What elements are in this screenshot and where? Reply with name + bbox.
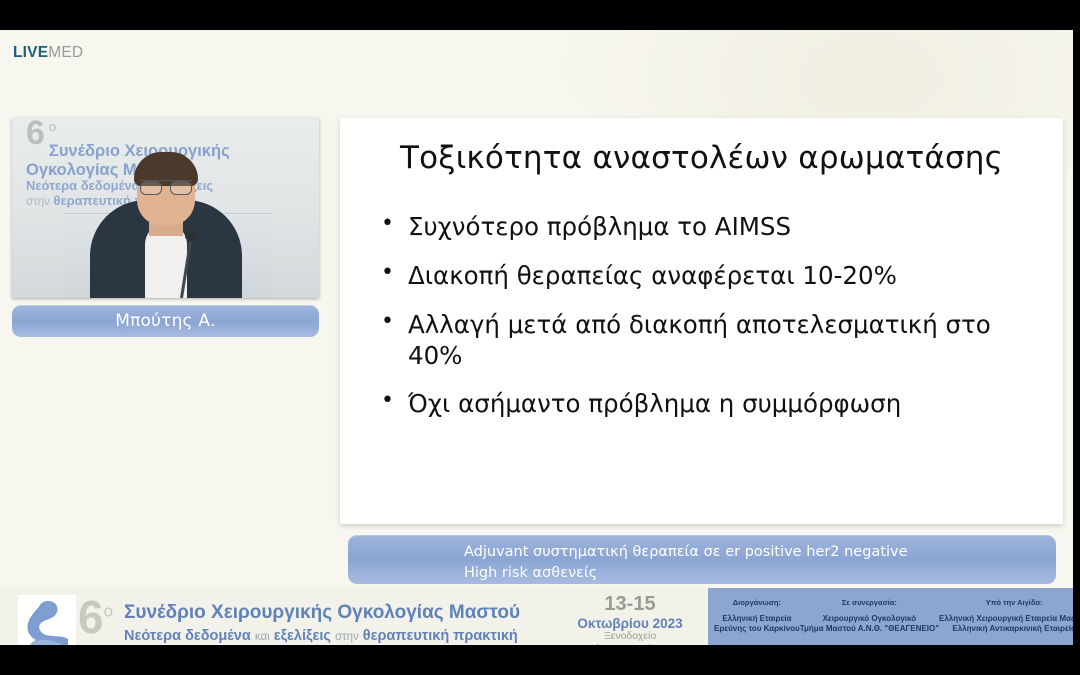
conference-venue-name: Electra Palace <box>562 643 698 645</box>
player-stage: LIVEMED 6o Συνέδριο Χειρουργικής Ογκολογ… <box>0 30 1073 645</box>
list-item: Όχι ασήμαντο πρόβλημα η συμμόρφωση <box>378 389 1037 420</box>
backdrop-line-4a: στην <box>26 196 50 208</box>
speaker-name-label: Μπούτης Α. <box>115 311 216 331</box>
conference-number: 6o <box>78 594 113 640</box>
conference-footer: 6o Συνέδριο Χειρουργικής Ογκολογίας Μαστ… <box>0 588 1073 645</box>
conference-title: Συνέδριο Χειρουργικής Ογκολογίας Μαστού <box>124 602 520 624</box>
organizer-column-organisation: Διοργάνωση: Ελληνική Εταιρεία Ερεύνης το… <box>714 598 800 645</box>
conference-month-year: Οκτωβρίου 2023 <box>562 616 698 631</box>
brand-med-text: MED <box>48 44 83 61</box>
organizer-2-head: Υπό την Αιγίδα: <box>939 598 1073 608</box>
slide-bullet-list: Συχνότερο πρόβλημα το AIMSS Διακοπή θερα… <box>378 212 1037 438</box>
conference-logo <box>18 595 76 645</box>
slide-title: Τοξικότητα αναστολέων αρωματάσης <box>340 140 1063 176</box>
session-caption-line-2: High risk ασθενείς <box>464 563 1056 584</box>
list-item: Αλλαγή μετά από διακοπή αποτελεσματική σ… <box>378 310 1037 372</box>
conference-subtitle-and: και <box>255 631 270 643</box>
organizer-2-line-2: Ελληνική Αντικαρκινική Εταιρεία <box>939 624 1073 634</box>
brand-live-text: LIVE <box>13 44 48 61</box>
organizer-1-line-1: Χειρουργικό Ογκολογικό <box>800 614 939 624</box>
backdrop-ordinal: o <box>49 119 56 134</box>
conference-date-block: 13-15 Οκτωβρίου 2023 Ξενοδοχείο Electra … <box>562 593 698 645</box>
organizer-0-head: Διοργάνωση: <box>714 598 800 608</box>
conference-days: 13-15 <box>562 593 698 616</box>
conference-venue-label: Ξενοδοχείο <box>562 631 698 643</box>
screen-root: LIVEMED 6o Συνέδριο Χειρουργικής Ογκολογ… <box>0 0 1080 675</box>
session-caption-bar: Adjuvant συστηματική θεραπεία σε er posi… <box>348 535 1056 584</box>
conference-subtitle-a: Νεότερα δεδομένα <box>124 628 251 644</box>
organizers-band: Διοργάνωση: Ελληνική Εταιρεία Ερεύνης το… <box>708 588 1073 645</box>
presentation-slide: Τοξικότητα αναστολέων αρωματάσης Συχνότε… <box>340 118 1063 524</box>
organizer-2-line-1: Ελληνική Χειρουργική Εταιρεία Μαστού <box>939 614 1073 624</box>
conference-subtitle-c: θεραπευτική πρακτική <box>363 628 518 644</box>
list-item: Συχνότερο πρόβλημα το AIMSS <box>378 212 1037 243</box>
conference-number-value: 6 <box>78 591 104 643</box>
organizer-1-line-2: Τμήμα Μαστού Α.Ν.Θ. "ΘΕΑΓΕΝΕΙΟ" <box>800 624 939 634</box>
organizer-1-head: Σε συνεργασία: <box>800 598 939 608</box>
list-item: Διακοπή θεραπείας αναφέρεται 10-20% <box>378 261 1037 292</box>
speaker-video-thumbnail[interactable]: 6o Συνέδριο Χειρουργικής Ογκολογίας Μαστ… <box>12 118 319 298</box>
speaker-glasses <box>140 180 192 194</box>
backdrop-line-3a: Νεότερα δεδομένα <box>26 178 140 193</box>
organizer-column-auspices: Υπό την Αιγίδα: Ελληνική Χειρουργική Ετα… <box>939 598 1073 645</box>
speaker-name-badge: Μπούτης Α. <box>12 305 319 337</box>
backdrop-number: 6 <box>26 118 45 149</box>
conference-subtitle-in: στην <box>335 631 359 643</box>
session-caption-line-1: Adjuvant συστηματική θεραπεία σε er posi… <box>464 542 1056 563</box>
organizer-column-collaboration: Σε συνεργασία: Χειρουργικό Ογκολογικό Τμ… <box>800 598 939 645</box>
organizer-0-line-1: Ελληνική Εταιρεία <box>714 614 800 624</box>
livemed-logo: LIVEMED <box>13 45 83 61</box>
conference-subtitle: Νεότερα δεδομένα και εξελίξεις στην θερα… <box>124 628 518 644</box>
organizer-0-line-2: Ερεύνης του Καρκίνου <box>714 624 800 634</box>
conference-number-ordinal: o <box>104 602 113 621</box>
conference-subtitle-b: εξελίξεις <box>274 628 331 644</box>
